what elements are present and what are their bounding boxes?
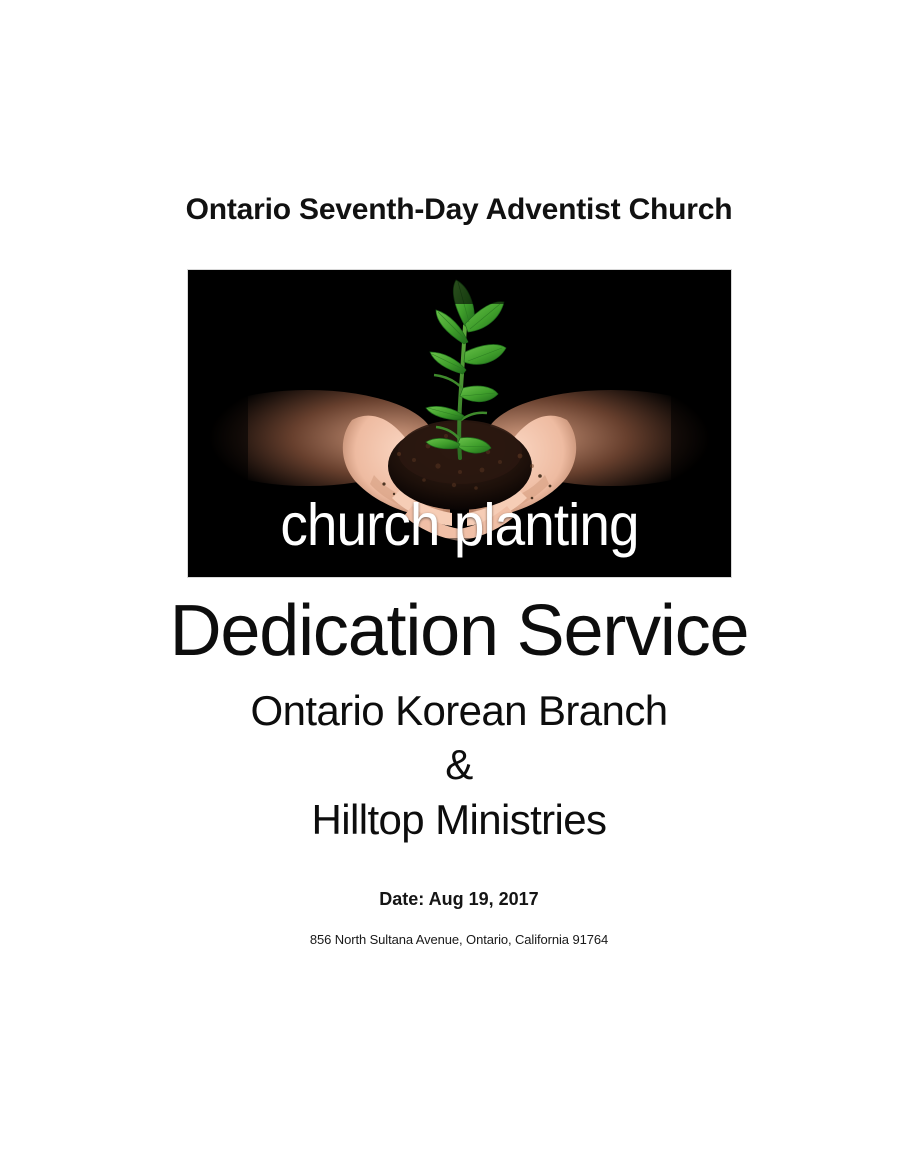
event-date: Date: Aug 19, 2017 [379,889,538,910]
event-address: 856 North Sultana Avenue, Ontario, Calif… [310,932,608,947]
subtitle-line-branch: Ontario Korean Branch [251,684,668,739]
service-title: Dedication Service [170,591,749,672]
photo-caption: church planting [207,496,712,555]
document-page: Ontario Seventh-Day Adventist Church [0,0,918,1158]
page-title: Ontario Seventh-Day Adventist Church [186,193,733,226]
subtitle-block: Ontario Korean Branch & Hilltop Ministri… [251,684,668,848]
church-planting-image: church planting [188,270,731,577]
subtitle-line-ministries: Hilltop Ministries [251,793,668,848]
subtitle-ampersand: & [251,738,668,793]
